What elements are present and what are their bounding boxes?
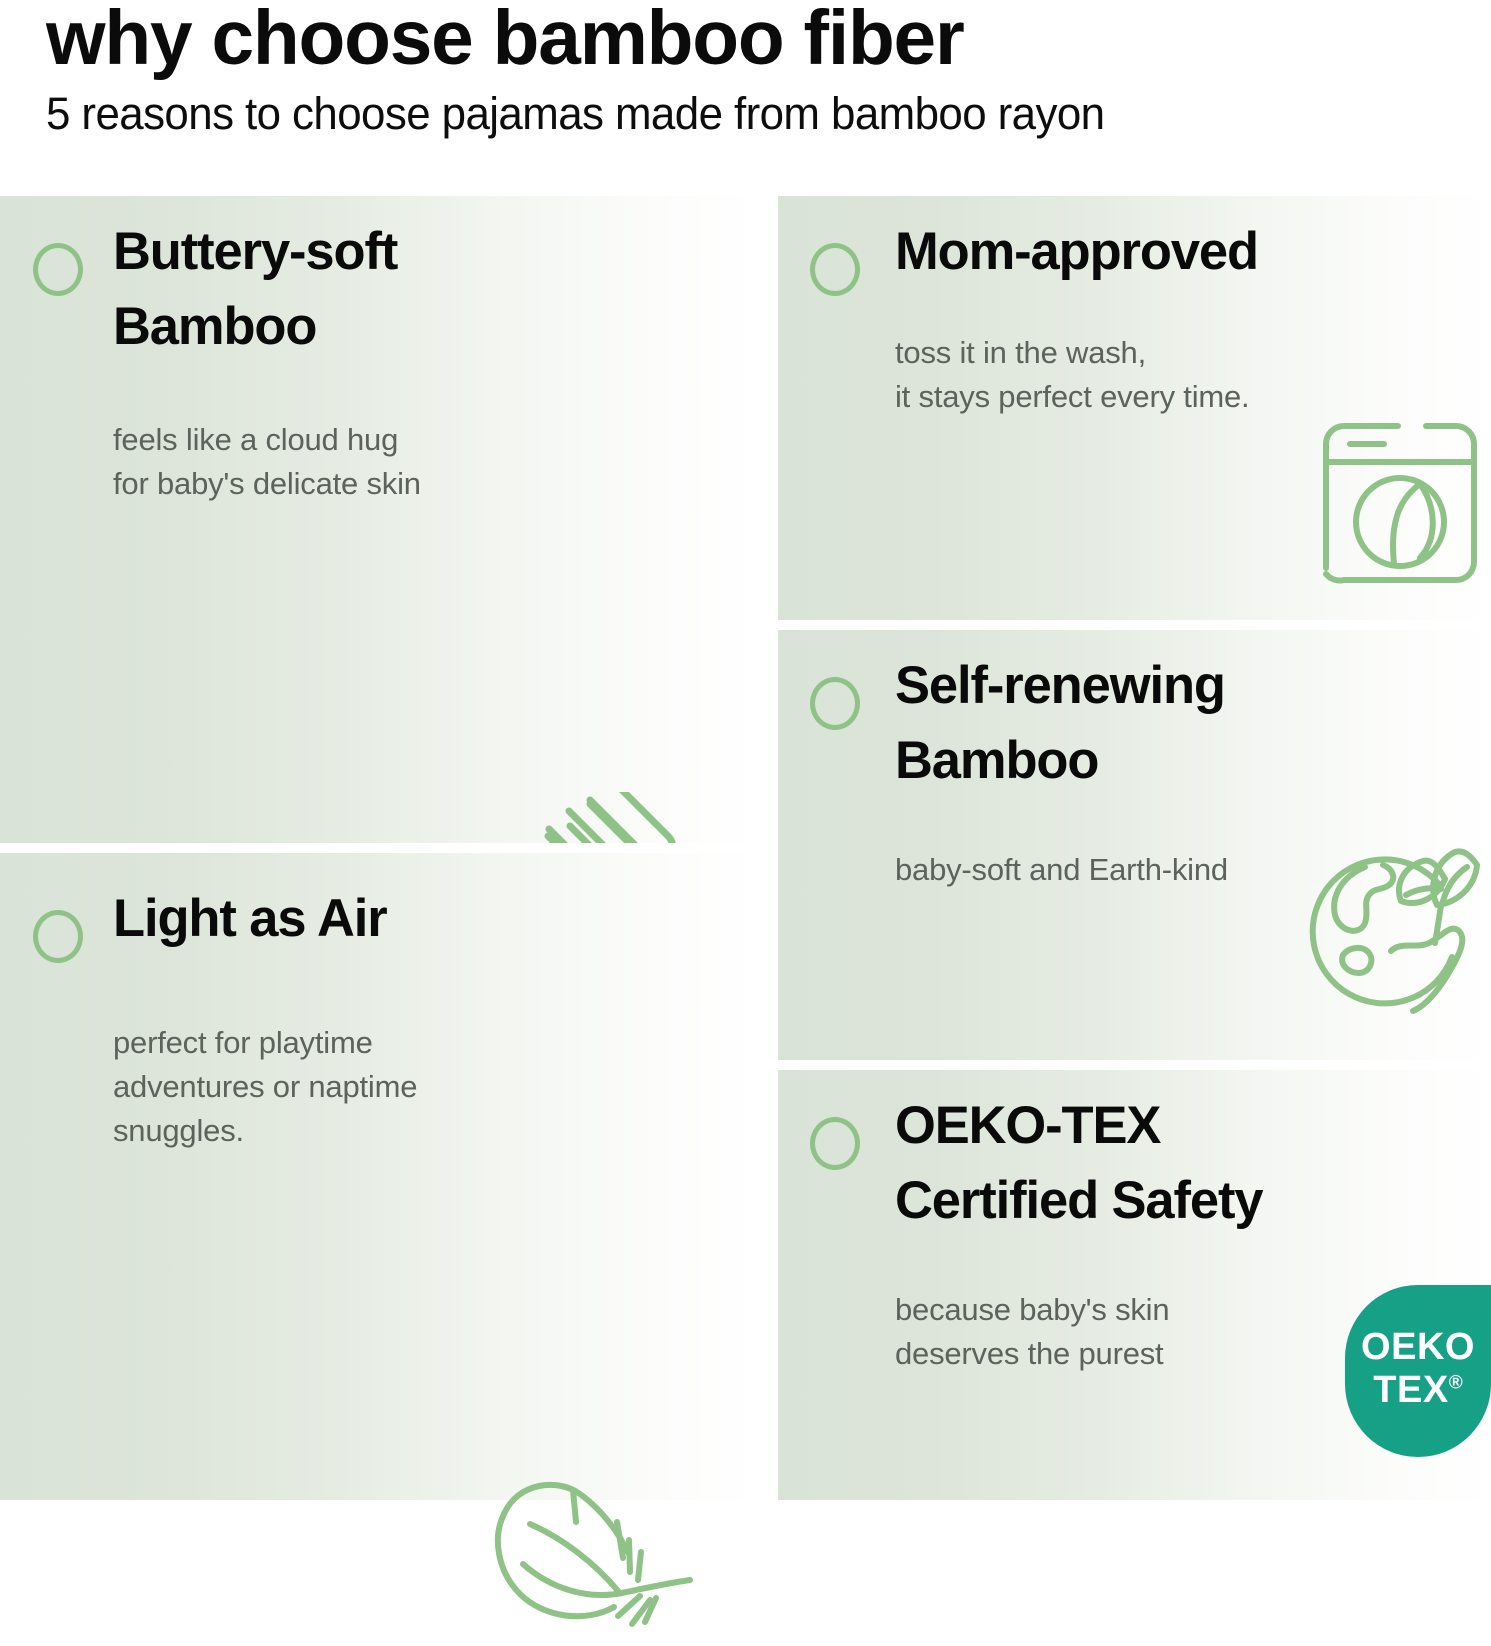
feature-card-self-renewing-bamboo: Self-renewing Bamboo baby-soft and Earth…	[778, 630, 1491, 1060]
oeko-tex-badge-line2-text: TEX	[1373, 1369, 1448, 1411]
feature-title: OEKO-TEX Certified Safety	[895, 1088, 1262, 1239]
bullet-circle-icon	[33, 910, 83, 963]
bullet-circle-icon	[810, 1117, 860, 1170]
page-title: why choose bamboo fiber	[46, 0, 964, 79]
feature-description: feels like a cloud hug for baby's delica…	[113, 418, 421, 506]
feature-description: because baby's skin deserves the purest	[895, 1288, 1169, 1376]
oeko-tex-badge: OEKO TEX®	[1345, 1285, 1491, 1457]
oeko-tex-badge-line1: OEKO	[1345, 1326, 1491, 1369]
feature-description: perfect for playtime adventures or napti…	[113, 1021, 417, 1153]
oeko-tex-badge-text: OEKO TEX®	[1345, 1326, 1491, 1411]
feature-title: Self-renewing Bamboo	[895, 648, 1225, 799]
feature-title: Mom-approved	[895, 214, 1258, 289]
feature-title: Buttery-soft Bamboo	[113, 214, 397, 365]
feature-description: toss it in the wash, it stays perfect ev…	[895, 331, 1249, 419]
feature-card-mom-approved: Mom-approved toss it in the wash, it sta…	[778, 196, 1491, 620]
bullet-circle-icon	[810, 243, 860, 296]
page-subtitle: 5 reasons to choose pajamas made from ba…	[46, 88, 1104, 140]
bullet-circle-icon	[33, 243, 83, 296]
registered-trademark-icon: ®	[1449, 1372, 1463, 1393]
feature-card-light-as-air: Light as Air perfect for playtime advent…	[0, 853, 757, 1500]
left-column: Buttery-soft Bamboo feels like a cloud h…	[0, 196, 757, 1500]
oeko-tex-badge-line2: TEX®	[1345, 1369, 1491, 1412]
feature-card-buttery-soft-bamboo: Buttery-soft Bamboo feels like a cloud h…	[0, 196, 757, 843]
feature-title: Light as Air	[113, 881, 387, 956]
page-header: why choose bamboo fiber 5 reasons to cho…	[0, 0, 1491, 196]
feature-description: baby-soft and Earth-kind	[895, 848, 1228, 892]
hand-soft-touch-icon	[497, 792, 729, 843]
bullet-circle-icon	[810, 677, 860, 730]
feather-icon	[490, 1476, 705, 1646]
